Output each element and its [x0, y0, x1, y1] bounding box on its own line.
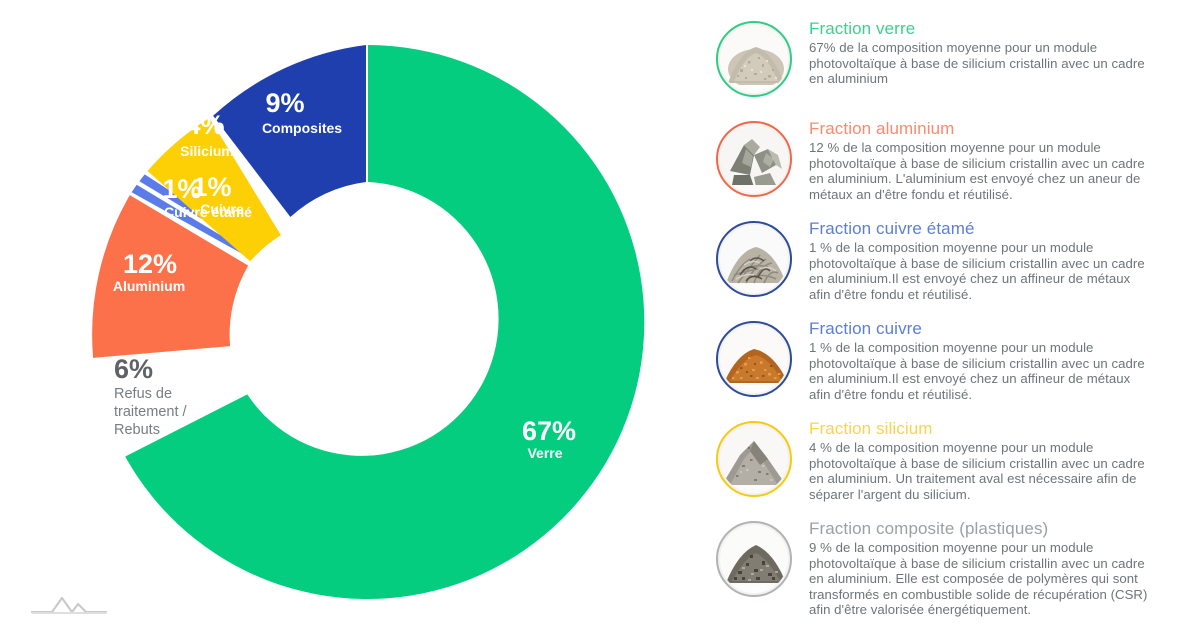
legend-item-fraction-cuivre[interactable]: Fraction cuivre 1 % de la composition mo…	[700, 318, 1183, 402]
slice-label-silicium-pct: 4%	[185, 110, 224, 140]
legend-description-fraction-composite: 9 % de la composition moyenne pour un mo…	[809, 540, 1154, 618]
legend-description-fraction-cuivre-etame: 1 % de la composition moyenne pour un mo…	[809, 240, 1154, 302]
slice-label-refus-name-line2: traitement /	[114, 404, 187, 420]
legend-title-fraction-cuivre: Fraction cuivre	[809, 318, 1183, 339]
slice-label-verre-pct: 67%	[522, 416, 576, 446]
legend-item-fraction-silicium[interactable]: Fraction silicium 4 % de la composition …	[700, 418, 1183, 502]
slice-label-aluminium-pct: 12%	[123, 249, 177, 279]
slice-label-refus-pct: 6%	[114, 354, 153, 384]
legend-text-block: Fraction verre 67% de la composition moy…	[809, 18, 1183, 87]
glass-cullet-photo	[716, 21, 792, 97]
legend-item-fraction-verre[interactable]: Fraction verre 67% de la composition moy…	[700, 18, 1183, 97]
legend-title-fraction-silicium: Fraction silicium	[809, 418, 1183, 439]
donut-slices	[92, 45, 644, 599]
slice-label-composites-name: Composites	[262, 120, 342, 136]
slice-label-cuivre-etame-pct: 1%	[162, 174, 201, 204]
legend-description-fraction-silicium: 4 % de la composition moyenne pour un mo…	[809, 440, 1154, 502]
legend-item-fraction-composite[interactable]: Fraction composite (plastiques) 9 % de l…	[700, 518, 1183, 618]
legend-text-block: Fraction aluminium 12 % de la compositio…	[809, 118, 1183, 202]
legend-text-block: Fraction cuivre étamé 1 % de la composit…	[809, 218, 1183, 302]
slice-label-refus-name-line3: Rebuts	[114, 422, 160, 438]
mountain-logo-watermark	[30, 591, 120, 619]
legend-item-fraction-aluminium[interactable]: Fraction aluminium 12 % de la compositio…	[700, 118, 1183, 202]
legend-panel: Fraction verre 67% de la composition moy…	[700, 0, 1183, 631]
copper-granules-photo	[716, 321, 792, 397]
slice-label-silicium-name: Silicium	[180, 143, 234, 159]
legend-text-block: Fraction silicium 4 % de la composition …	[809, 418, 1183, 502]
slice-label-cuivre-etame-name: Cuivre étamé	[164, 204, 252, 220]
legend-description-fraction-verre: 67% de la composition moyenne pour un mo…	[809, 40, 1154, 87]
aluminium-scrap-photo	[716, 121, 792, 197]
slice-label-refus-name-line1: Refus de	[114, 386, 172, 402]
slice-label-composites-pct: 9%	[265, 88, 304, 118]
composite-plastics-photo	[716, 521, 792, 597]
legend-title-fraction-composite: Fraction composite (plastiques)	[809, 518, 1183, 539]
slice-label-verre-name: Verre	[527, 445, 562, 461]
slice-label-aluminium-name: Aluminium	[113, 278, 185, 294]
legend-item-fraction-cuivre-etame[interactable]: Fraction cuivre étamé 1 % de la composit…	[700, 218, 1183, 302]
legend-description-fraction-cuivre: 1 % de la composition moyenne pour un mo…	[809, 340, 1154, 402]
legend-text-block: Fraction composite (plastiques) 9 % de l…	[809, 518, 1183, 618]
tinned-copper-photo	[716, 221, 792, 297]
legend-title-fraction-verre: Fraction verre	[809, 18, 1183, 39]
legend-description-fraction-aluminium: 12 % de la composition moyenne pour un m…	[809, 140, 1154, 202]
silicon-powder-photo	[716, 421, 792, 497]
legend-title-fraction-aluminium: Fraction aluminium	[809, 118, 1183, 139]
donut-chart: 67% Verre 9% Composites 4% Silicium 1% C…	[0, 0, 700, 631]
legend-text-block: Fraction cuivre 1 % de la composition mo…	[809, 318, 1183, 402]
donut-chart-panel: 67% Verre 9% Composites 4% Silicium 1% C…	[0, 0, 700, 631]
legend-title-fraction-cuivre-etame: Fraction cuivre étamé	[809, 218, 1183, 239]
